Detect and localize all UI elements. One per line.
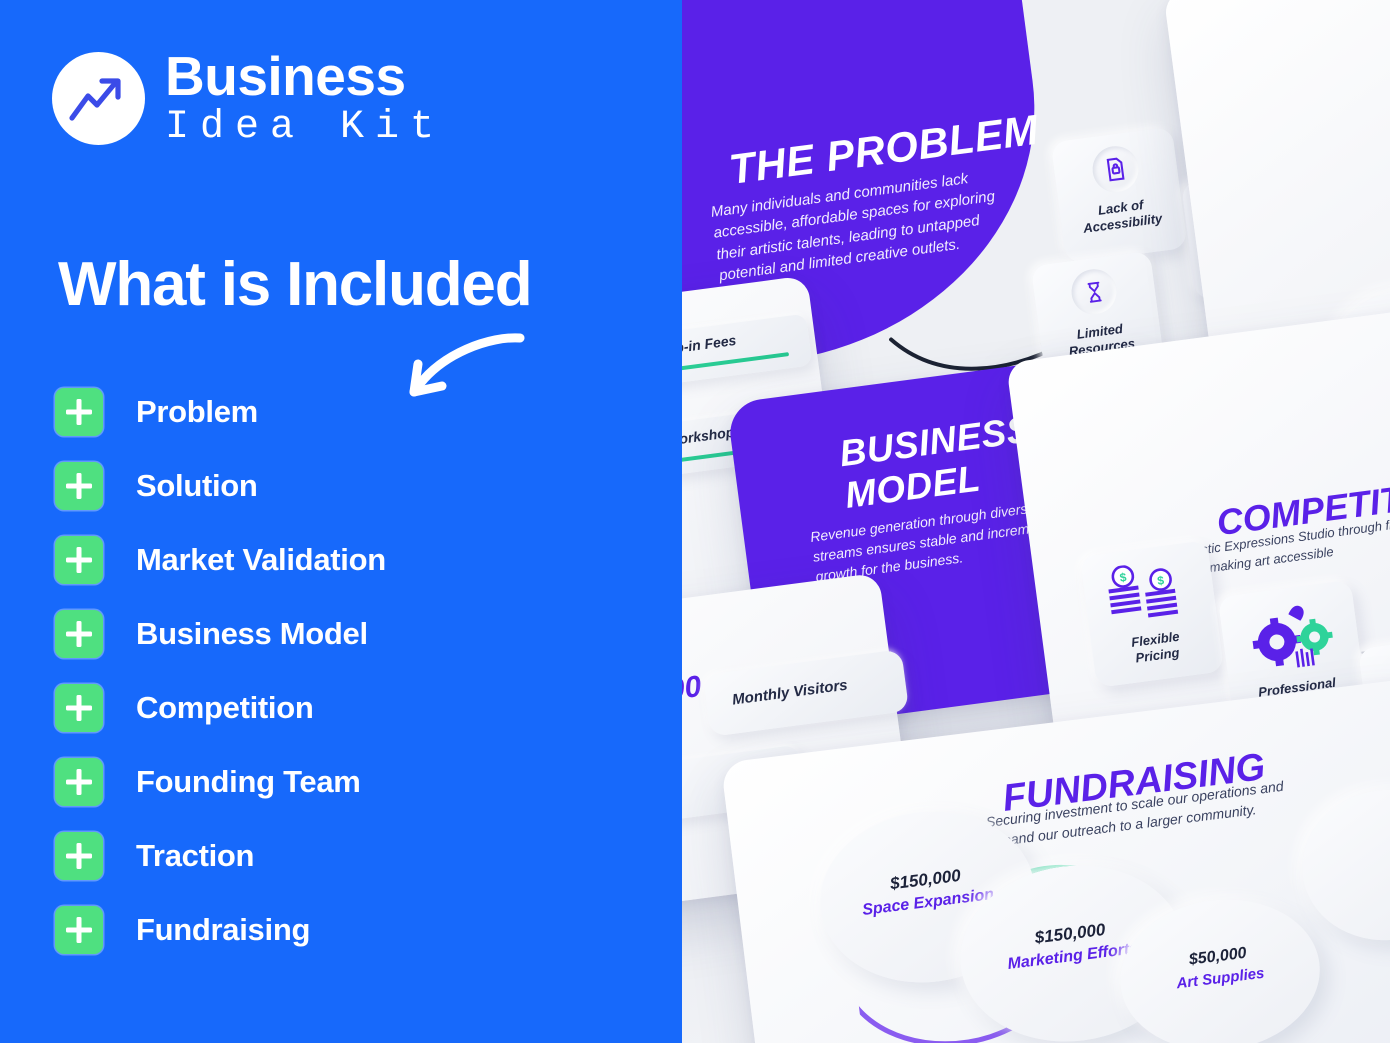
list-item-label: Business Model (136, 616, 368, 652)
brand-wordmark: Business Idea Kit (165, 49, 445, 148)
plus-icon (55, 610, 103, 658)
list-item[interactable]: Fundraising (55, 906, 386, 954)
plus-icon (55, 684, 103, 732)
card-flexible-pricing[interactable]: $ $ Flexible Pricing (1080, 540, 1224, 688)
list-item-label: Competition (136, 690, 314, 726)
gears-icon (1239, 594, 1344, 678)
plus-icon (55, 462, 103, 510)
locked-document-icon (1090, 143, 1142, 195)
list-item-label: Market Validation (136, 542, 386, 578)
list-item-label: Fundraising (136, 912, 310, 948)
brand-name-primary: Business (165, 49, 445, 104)
poster-canvas: THE PROBLEM Many individuals and communi… (0, 0, 1390, 1043)
money-stack-icon: $ $ (1104, 557, 1196, 631)
list-item[interactable]: Market Validation (55, 536, 386, 584)
left-info-panel: Business Idea Kit What is Included Probl… (0, 0, 682, 1043)
included-features-list: Problem Solution Market Validation Busin… (55, 388, 386, 980)
list-item[interactable]: Business Model (55, 610, 386, 658)
metric-label: Monthly Visitors (731, 677, 848, 709)
list-item-label: Problem (136, 394, 258, 430)
list-item[interactable]: Competition (55, 684, 386, 732)
curved-down-left-arrow-icon (388, 330, 528, 405)
page-title: What is Included (58, 249, 531, 320)
card-label: Lack of Accessibility (1059, 192, 1184, 239)
list-item[interactable]: Founding Team (55, 758, 386, 806)
plus-icon (55, 388, 103, 436)
list-item[interactable]: Problem (55, 388, 386, 436)
brand-name-secondary: Idea Kit (165, 108, 445, 148)
card-label: Flexible Pricing (1091, 623, 1222, 671)
plus-icon (55, 832, 103, 880)
plus-icon (55, 758, 103, 806)
brand-lockup: Business Idea Kit (52, 49, 445, 148)
plus-icon (55, 536, 103, 584)
hourglass-icon (1069, 267, 1119, 317)
list-item[interactable]: Solution (55, 462, 386, 510)
growth-chart-circle-icon (52, 52, 145, 145)
card-lack-of-accessibility[interactable]: Lack of Accessibility (1051, 127, 1188, 264)
slide-preview-area: THE PROBLEM Many individuals and communi… (660, 0, 1390, 1043)
list-item-label: Traction (136, 838, 254, 874)
plus-icon (55, 906, 103, 954)
list-item[interactable]: Traction (55, 832, 386, 880)
list-item-label: Founding Team (136, 764, 361, 800)
list-item-label: Solution (136, 468, 258, 504)
